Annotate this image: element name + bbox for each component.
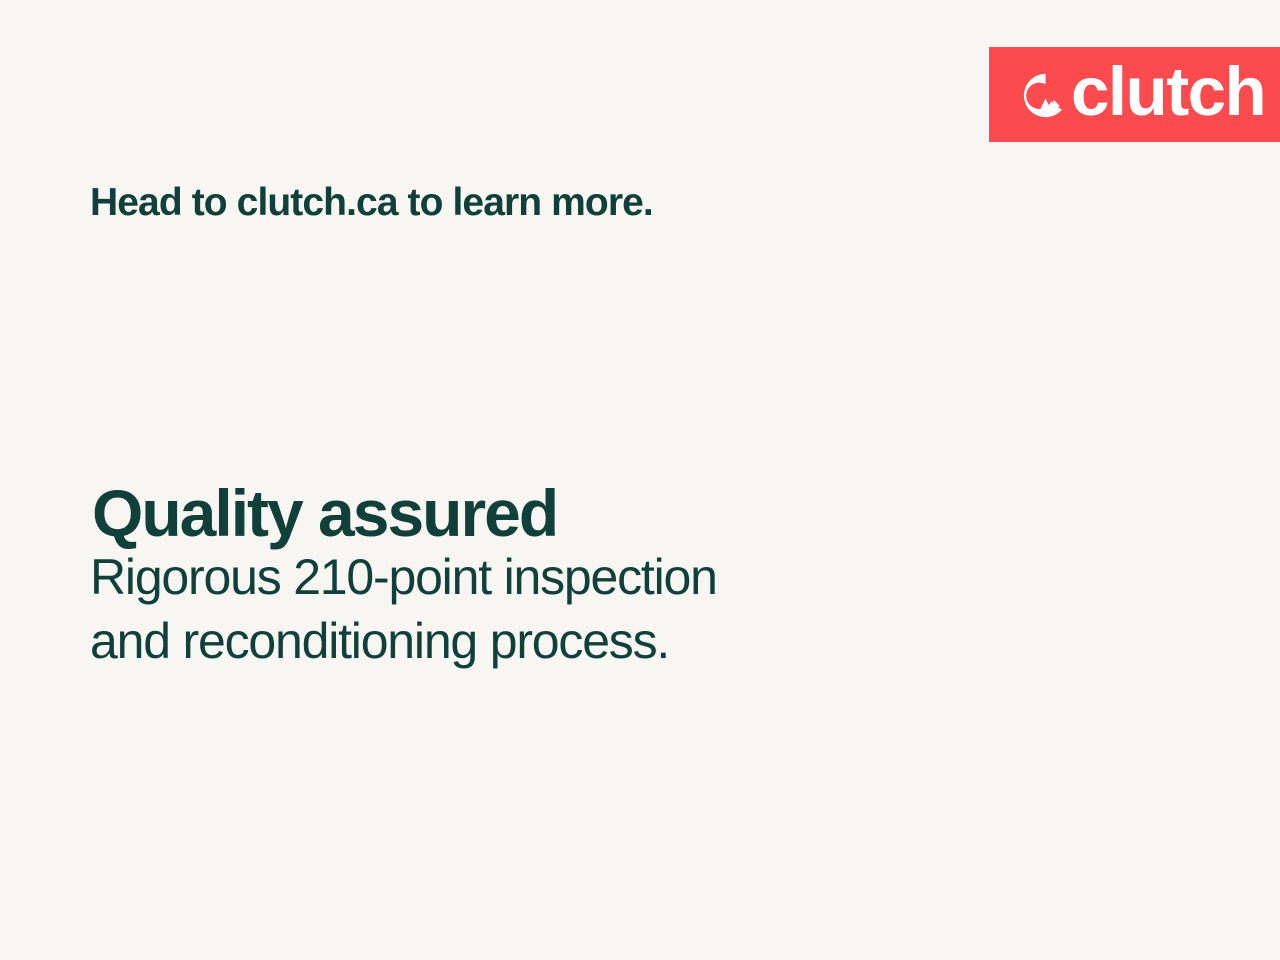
- subcopy-line-2: and reconditioning process.: [90, 609, 717, 673]
- subcopy-line-1: Rigorous 210-point inspection: [90, 545, 717, 609]
- promo-slide: clutch Head to clutch.ca to learn more. …: [0, 0, 1280, 960]
- clutch-c-aperture-icon: [1022, 72, 1069, 119]
- subcopy-block: Rigorous 210-point inspection and recond…: [90, 545, 717, 673]
- headline-text: Quality assured: [92, 478, 557, 549]
- clutch-logo-lockup: clutch: [1022, 47, 1265, 142]
- tagline-text: Head to clutch.ca to learn more.: [90, 181, 653, 226]
- clutch-wordmark: clutch: [1071, 57, 1265, 126]
- clutch-logo-badge[interactable]: clutch: [989, 47, 1280, 142]
